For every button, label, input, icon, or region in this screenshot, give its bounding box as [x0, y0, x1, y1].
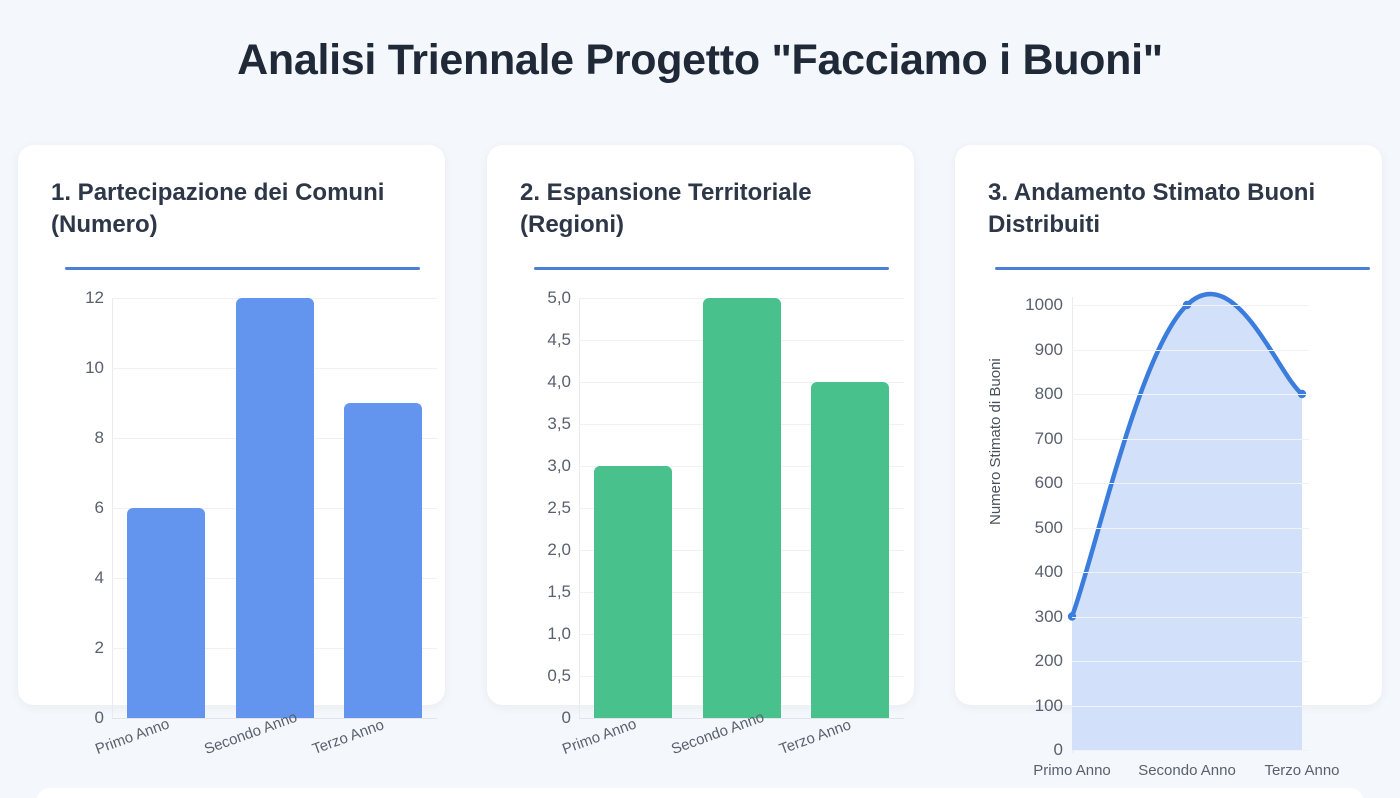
bar[interactable]: [344, 403, 422, 718]
gridline: [1072, 750, 1309, 751]
y-axis-tick-label: 6: [95, 498, 104, 518]
bar-chart-territorial-expansion: 00,51,01,52,02,53,03,54,04,55,0Primo Ann…: [579, 298, 904, 718]
y-axis-tick-label: 900: [1035, 340, 1063, 360]
card-title-1: 1. Partecipazione dei Comuni (Numero): [51, 177, 411, 240]
x-axis-tick-label: Terzo Anno: [777, 716, 853, 758]
y-axis-tick-label: 0,5: [547, 666, 571, 686]
y-axis-tick-label: 700: [1035, 429, 1063, 449]
gridline: [1072, 661, 1309, 662]
page-root: Analisi Triennale Progetto "Facciamo i B…: [0, 0, 1400, 798]
y-axis-tick-label: 200: [1035, 651, 1063, 671]
bar[interactable]: [594, 466, 672, 718]
y-axis-tick-label: 0: [95, 708, 104, 728]
gridline: [1072, 394, 1309, 395]
x-axis-tick-label: Primo Anno: [560, 715, 639, 757]
y-axis-tick-label: 500: [1035, 518, 1063, 538]
y-axis-tick-label: 8: [95, 428, 104, 448]
y-axis-tick-label: 1,0: [547, 624, 571, 644]
bar-chart-participation: 024681012Primo AnnoSecondo AnnoTerzo Ann…: [112, 298, 437, 718]
y-axis-tick-label: 5,0: [547, 288, 571, 308]
line-chart-estimated-vouchers: 01002003004005006007008009001000: [1072, 305, 1302, 750]
y-axis-tick-label: 1000: [1025, 295, 1063, 315]
y-axis-tick-label: 800: [1035, 384, 1063, 404]
bar[interactable]: [811, 382, 889, 718]
bar[interactable]: [127, 508, 205, 718]
line-chart-svg: [1070, 297, 1320, 767]
gridline: [1072, 706, 1309, 707]
y-axis-tick-label: 1,5: [547, 582, 571, 602]
next-section-card: [36, 788, 1364, 798]
y-axis-tick-label: 600: [1035, 473, 1063, 493]
bar[interactable]: [236, 298, 314, 718]
y-axis-tick-label: 0: [1054, 740, 1063, 760]
y-axis-tick-label: 400: [1035, 562, 1063, 582]
y-axis-tick-label: 3,0: [547, 456, 571, 476]
card-title-underline: [995, 267, 1370, 270]
gridline: [1072, 483, 1309, 484]
y-axis-tick-label: 2,5: [547, 498, 571, 518]
card-title-3: 3. Andamento Stimato Buoni Distribuiti: [988, 177, 1348, 240]
gridline: [1072, 439, 1309, 440]
y-axis-tick-label: 10: [85, 358, 104, 378]
gridline: [1072, 617, 1309, 618]
gridline: [1072, 528, 1309, 529]
y-axis-tick-label: 3,5: [547, 414, 571, 434]
y-axis-tick-label: 100: [1035, 696, 1063, 716]
gridline: [1072, 572, 1309, 573]
x-axis-tick-label: Primo Anno: [93, 715, 172, 757]
card-title-underline: [534, 267, 889, 270]
y-axis-tick-label: 4: [95, 568, 104, 588]
card-title-2: 2. Espansione Territoriale (Regioni): [520, 177, 880, 240]
line-chart-area: [1072, 294, 1302, 750]
y-axis-tick-label: 2,0: [547, 540, 571, 560]
bar[interactable]: [703, 298, 781, 718]
y-axis-tick-label: 4,5: [547, 330, 571, 350]
chart3-y-axis-title: Numero Stimato di Buoni: [987, 358, 1004, 525]
x-axis-tick-label: Secondo Anno: [1138, 762, 1236, 779]
x-axis-tick-label: Terzo Anno: [310, 716, 386, 758]
y-axis-tick-label: 12: [85, 288, 104, 308]
y-axis-tick-label: 4,0: [547, 372, 571, 392]
y-axis-tick-label: 2: [95, 638, 104, 658]
page-title: Analisi Triennale Progetto "Facciamo i B…: [0, 36, 1400, 85]
card-title-underline: [65, 267, 420, 270]
y-axis-tick-label: 300: [1035, 607, 1063, 627]
gridline: [1072, 305, 1309, 306]
x-axis-tick-label: Terzo Anno: [1264, 762, 1339, 779]
gridline: [1072, 350, 1309, 351]
y-axis-tick-label: 0: [562, 708, 571, 728]
x-axis-tick-label: Primo Anno: [1033, 762, 1111, 779]
